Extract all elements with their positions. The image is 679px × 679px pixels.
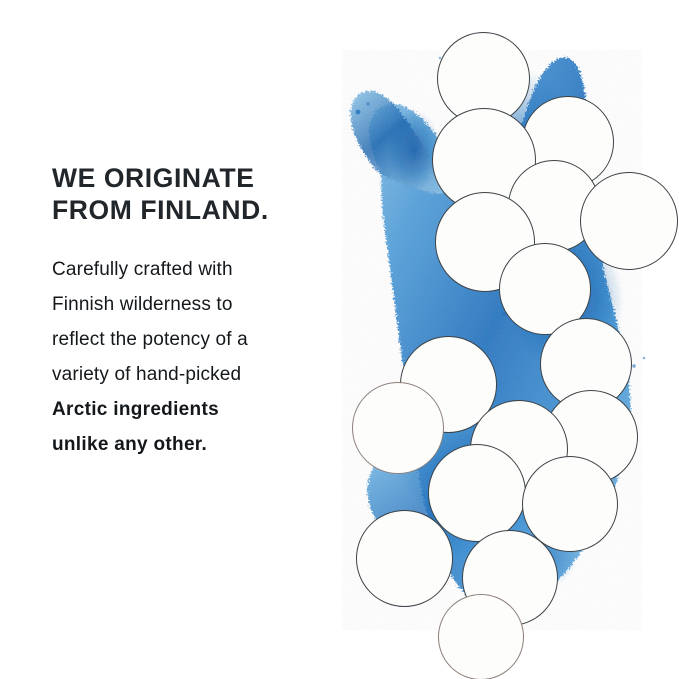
poster-canvas: WE ORIGINATE FROM FINLAND. Carefully cra… [0,0,679,679]
medallion-calendula [356,510,453,607]
body-line-emphasis: unlike any other. [52,427,362,462]
meadowsweet-icon [581,173,678,270]
medallion-pink-plant [438,594,524,679]
medallion-birch-bark [352,382,444,474]
page-title: WE ORIGINATE FROM FINLAND. [52,162,362,226]
finland-artwork [322,0,679,679]
pink-plant-icon [439,595,524,679]
headline-line-2: FROM FINLAND. [52,194,362,226]
body-line: Finnish wilderness to [52,287,362,322]
body-copy: Carefully crafted with Finnish wildernes… [52,252,362,462]
body-line: Carefully crafted with [52,252,362,287]
headline-line-1: WE ORIGINATE [52,162,362,194]
body-line-emphasis: Arctic ingredients [52,392,362,427]
body-line: variety of hand-picked [52,357,362,392]
calendula-icon [357,511,453,607]
medallion-meadowsweet [580,172,678,270]
birch-bark-icon [353,383,444,474]
cloudberry-leaf-icon [429,445,526,542]
body-line: reflect the potency of a [52,322,362,357]
medallion-cloudberry-leaves [428,444,526,542]
text-block: WE ORIGINATE FROM FINLAND. Carefully cra… [52,162,362,462]
